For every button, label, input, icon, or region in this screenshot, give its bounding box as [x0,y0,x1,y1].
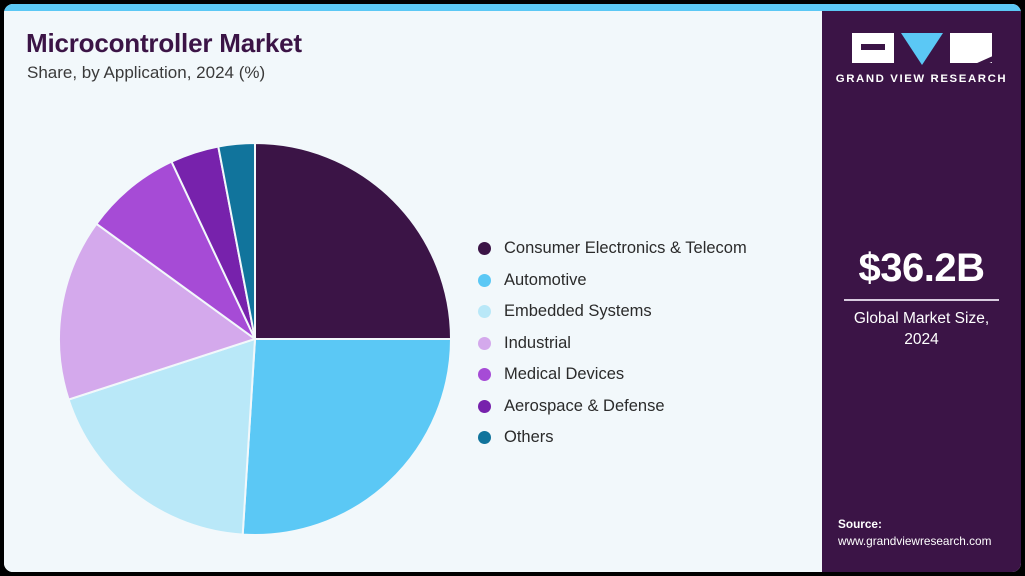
logo-g-icon [852,33,894,63]
legend-item[interactable]: Embedded Systems [478,296,808,328]
legend-item-label: Automotive [504,271,587,290]
legend-color-swatch-icon [478,368,491,381]
stat-caption: Global Market Size, 2024 [822,308,1021,350]
page-subtitle: Share, by Application, 2024 (%) [27,63,265,83]
legend-item[interactable]: Aerospace & Defense [478,391,808,423]
brand-sidebar: GRAND VIEW RESEARCH $36.2B Global Market… [822,11,1021,572]
legend-color-swatch-icon [478,305,491,318]
logo-r-icon [950,33,992,63]
legend-color-swatch-icon [478,242,491,255]
infographic-card: Microcontroller Market Share, by Applica… [4,4,1021,572]
source-block: Source: www.grandviewresearch.com [838,516,1020,550]
brand-logo: GRAND VIEW RESEARCH [822,33,1021,85]
legend-item-label: Consumer Electronics & Telecom [504,239,747,258]
legend-color-swatch-icon [478,274,491,287]
brand-name: GRAND VIEW RESEARCH [822,73,1021,85]
pie-chart [56,133,456,543]
legend-color-swatch-icon [478,337,491,350]
legend-item[interactable]: Industrial [478,328,808,360]
legend-item-label: Others [504,428,554,447]
legend-item-label: Aerospace & Defense [504,397,665,416]
pie-slice[interactable] [243,339,451,535]
legend-item-label: Industrial [504,334,571,353]
stat-divider [844,299,999,301]
legend-item[interactable]: Medical Devices [478,359,808,391]
legend-item[interactable]: Consumer Electronics & Telecom [478,233,808,265]
legend-color-swatch-icon [478,431,491,444]
logo-marks [822,33,1021,65]
page-title: Microcontroller Market [26,28,302,59]
legend-item[interactable]: Others [478,422,808,454]
legend-item-label: Embedded Systems [504,302,652,321]
chart-legend: Consumer Electronics & TelecomAutomotive… [478,233,808,454]
chart-pane: Microcontroller Market Share, by Applica… [4,11,822,572]
stat-value: $36.2B [822,245,1021,291]
legend-item[interactable]: Automotive [478,265,808,297]
accent-top-bar [4,4,1021,11]
market-size-stat: $36.2B Global Market Size, 2024 [822,245,1021,350]
legend-item-label: Medical Devices [504,365,624,384]
pie-slice[interactable] [255,143,451,339]
logo-v-triangle-icon [901,33,943,65]
pie-chart-svg [56,133,456,543]
source-label: Source: [838,516,1020,533]
source-url[interactable]: www.grandviewresearch.com [838,533,1020,550]
legend-color-swatch-icon [478,400,491,413]
